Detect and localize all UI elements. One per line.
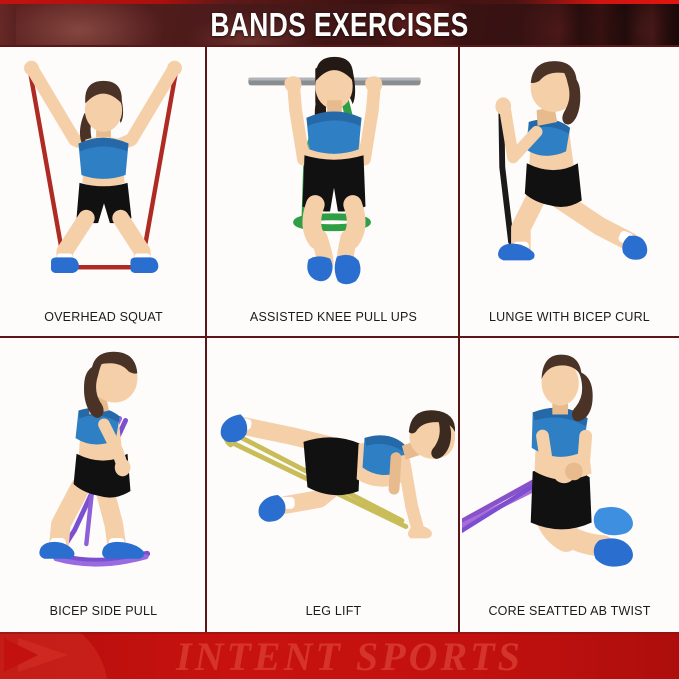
exercise-label: ASSISTED KNEE PULL UPS [209,302,458,332]
brand-name: INTENT SPORTS [176,632,523,679]
exercise-label: OVERHEAD SQUAT [2,302,205,332]
header-background-left-shade [0,4,16,47]
exercise-card-core-seatted-ab-twist[interactable]: CORE SEATTED AB TWIST [460,338,679,632]
illustration-leg-lift [209,340,458,594]
illustration-overhead-squat [2,49,205,300]
card-inner: CORE SEATTED AB TWIST [462,340,677,630]
illustration-lunge-with-bicep-curl [462,49,677,300]
exercise-grid: OVERHEAD SQUAT [0,47,679,632]
card-inner: OVERHEAD SQUAT [2,49,205,336]
card-inner: LUNGE WITH BICEP CURL [462,49,677,336]
exercise-label: CORE SEATTED AB TWIST [462,596,677,626]
card-inner: ASSISTED KNEE PULL UPS [209,49,458,336]
exercise-label: LUNGE WITH BICEP CURL [462,302,677,332]
poster-root: BANDS EXERCISES [0,0,679,679]
page-title: BANDS EXERCISES [68,3,611,47]
exercise-label: LEG LIFT [209,596,458,626]
illustration-assisted-knee-pull-ups [209,49,458,300]
card-inner: LEG LIFT [209,340,458,630]
exercise-card-overhead-squat[interactable]: OVERHEAD SQUAT [0,47,207,338]
poster-header: BANDS EXERCISES [0,0,679,47]
exercise-card-lunge-with-bicep-curl[interactable]: LUNGE WITH BICEP CURL [460,47,679,338]
exercise-label: BICEP SIDE PULL [2,596,205,626]
poster-footer: INTENT SPORTS [0,632,679,679]
exercise-card-assisted-knee-pull-ups[interactable]: ASSISTED KNEE PULL UPS [207,47,460,338]
illustration-core-seatted-ab-twist [462,340,677,594]
card-inner: BICEP SIDE PULL [2,340,205,630]
illustration-bicep-side-pull [2,340,205,594]
footer-top-divider [0,632,679,634]
exercise-card-leg-lift[interactable]: LEG LIFT [207,338,460,632]
exercise-card-bicep-side-pull[interactable]: BICEP SIDE PULL [0,338,207,632]
chevron-arrow-cutout [4,638,38,672]
